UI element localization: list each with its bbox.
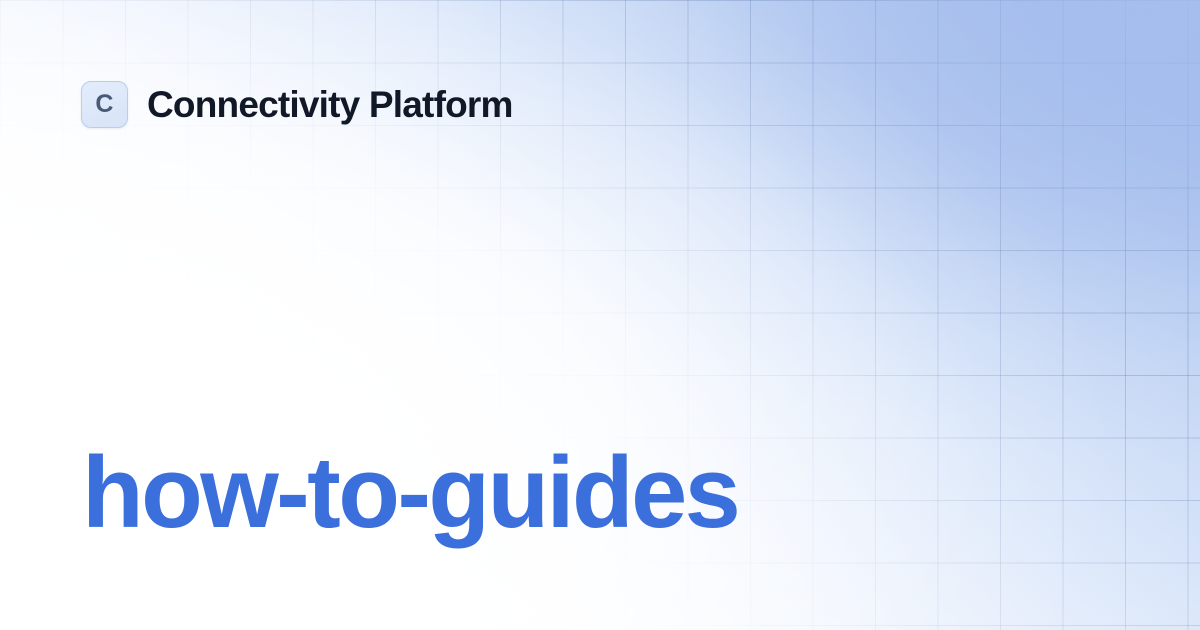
card-content: C Connectivity Platform how-to-guides <box>0 0 1200 630</box>
logo-badge-letter: C <box>95 92 113 117</box>
brand-lockup: C Connectivity Platform <box>81 81 513 128</box>
og-card: C Connectivity Platform how-to-guides <box>0 0 1200 630</box>
page-title: how-to-guides <box>82 443 738 544</box>
brand-name: Connectivity Platform <box>147 86 513 123</box>
logo-badge-icon: C <box>81 81 128 128</box>
